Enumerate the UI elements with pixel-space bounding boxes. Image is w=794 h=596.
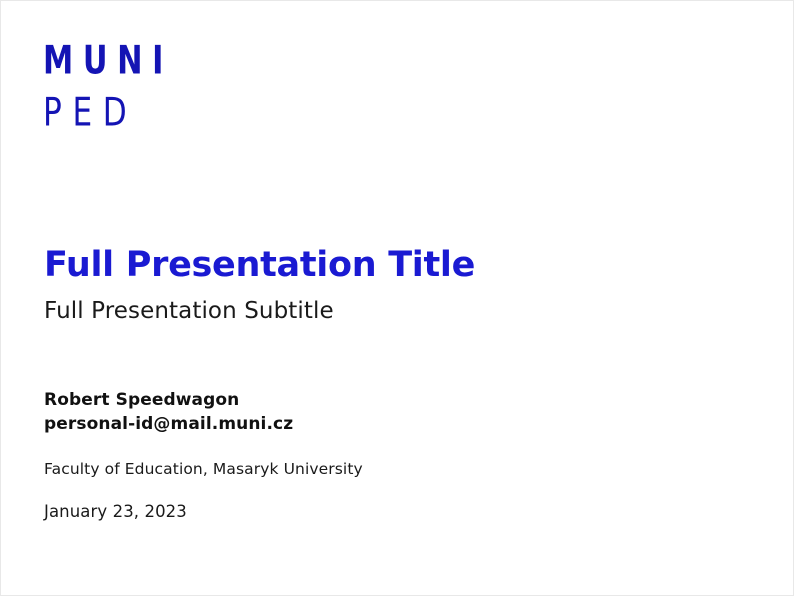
- presentation-subtitle: Full Presentation Subtitle: [44, 296, 753, 326]
- logo-ped-wordmark: PED: [43, 93, 176, 132]
- presentation-title: Full Presentation Title: [44, 244, 753, 286]
- author-block: Robert Speedwagon personal-id@mail.muni.…: [44, 388, 753, 436]
- presentation-title-slide: MUNI PED Full Presentation Title Full Pr…: [0, 0, 794, 596]
- author-name: Robert Speedwagon: [44, 388, 753, 412]
- logo-muni-wordmark: MUNI: [43, 41, 173, 80]
- author-affiliation: Faculty of Education, Masaryk University: [44, 458, 753, 480]
- slide-content: Full Presentation Title Full Presentatio…: [44, 244, 753, 523]
- presentation-date: January 23, 2023: [44, 501, 753, 523]
- muni-ped-logo: MUNI PED: [43, 41, 206, 131]
- author-email: personal-id@mail.muni.cz: [44, 412, 753, 436]
